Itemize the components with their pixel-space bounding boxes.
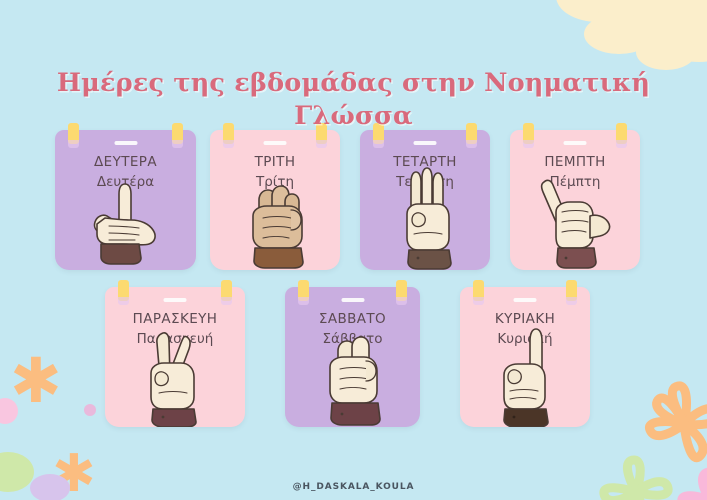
tape-strip-icon [566, 280, 577, 301]
card-notch [514, 298, 537, 302]
sign-illustration [55, 165, 196, 270]
card-notch [164, 298, 187, 302]
raised-fist-hand-icon [314, 323, 392, 427]
sign-illustration [285, 322, 420, 427]
day-card-triti[interactable]: ΤΡΙΤΗ Τρίτη [210, 130, 340, 270]
tape-strip-icon [118, 280, 129, 301]
day-card-tetarti[interactable]: ΤΕΤΑΡΤΗ Τετάρτη [360, 130, 490, 270]
card-notch [114, 141, 137, 145]
day-card-deftera[interactable]: ΔΕΥΤΕΡΑ Δευτέρα [55, 130, 196, 270]
tape-strip-icon [221, 280, 232, 301]
day-card-savvato[interactable]: ΣΑΒΒΑΤΟ Σάββατο [285, 287, 420, 427]
sign-illustration [360, 165, 490, 270]
index-finger-pointing-up-hand-icon [488, 321, 562, 427]
three-fingers-up-hand-icon [390, 162, 460, 270]
card-notch [564, 141, 587, 145]
tape-strip-icon [298, 280, 309, 301]
day-card-paraskevi[interactable]: ΠΑΡΑΣΚΕΥΗ Παρασκευή [105, 287, 245, 427]
closed-fist-fingers-curled-hand-icon [239, 170, 311, 270]
sign-illustration [510, 165, 640, 270]
day-card-kyriaki[interactable]: ΚΥΡΙΑΚΗ Κυριακή [460, 287, 590, 427]
sign-illustration [460, 322, 590, 427]
card-notch [414, 141, 437, 145]
page-title: Ημέρες της εβδομάδας στην Νοηματική Γλώσ… [0, 67, 707, 132]
watermark-handle: @H_DASKALA_KOULA [0, 482, 707, 492]
index-finger-and-thumb-l-shape-hand-icon [83, 170, 169, 270]
sign-illustration [210, 165, 340, 270]
poster-canvas: ✱ ✱ [0, 0, 707, 500]
tape-strip-icon [473, 280, 484, 301]
sign-illustration [105, 322, 245, 427]
tape-strip-icon [396, 280, 407, 301]
card-notch [341, 298, 364, 302]
day-card-pempti[interactable]: ΠΕΜΠΤΗ Πέμπτη [510, 130, 640, 270]
two-fingers-v-peace-hand-icon [133, 321, 217, 427]
thumb-and-pinky-out-shaka-hand-icon [530, 166, 620, 270]
card-notch [264, 141, 287, 145]
